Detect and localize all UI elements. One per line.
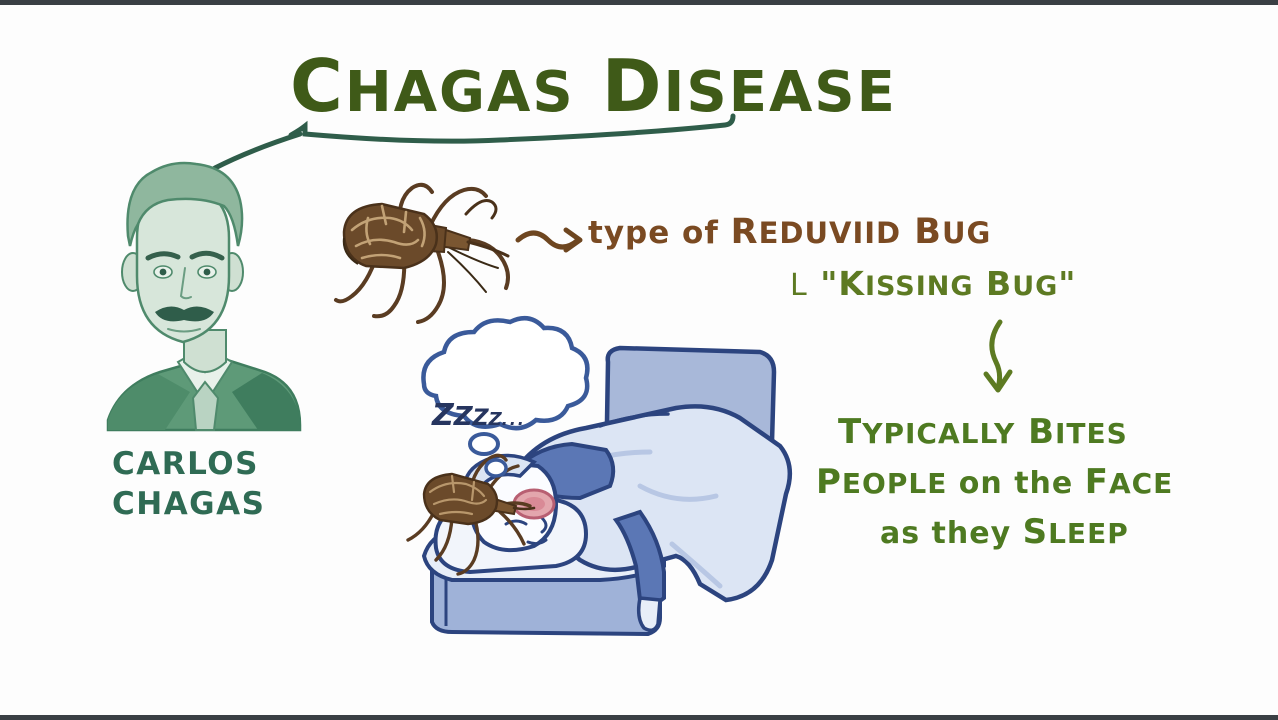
zzz-z3: Z	[473, 406, 489, 431]
zzz-z1: Z	[432, 398, 454, 433]
thought-bubble-dot-large	[470, 434, 498, 454]
zzz-z4: Z	[489, 409, 502, 430]
title-cap-c: C	[290, 44, 345, 128]
title-disease-rest: ISEASE	[664, 60, 897, 125]
zzz-dots: ...	[502, 410, 526, 429]
title-chagas-rest: HAGAS	[345, 60, 575, 125]
illustration-canvas: CARLOS CHAGAS	[0, 0, 1278, 720]
title-cap-d: D	[602, 44, 664, 128]
zzz-z2: Z	[454, 402, 473, 432]
zzz-text: ZZZZ...	[432, 398, 526, 433]
page-title: CHAGAS DISEASE	[290, 44, 897, 128]
thought-bubble-dot-small	[486, 460, 506, 476]
